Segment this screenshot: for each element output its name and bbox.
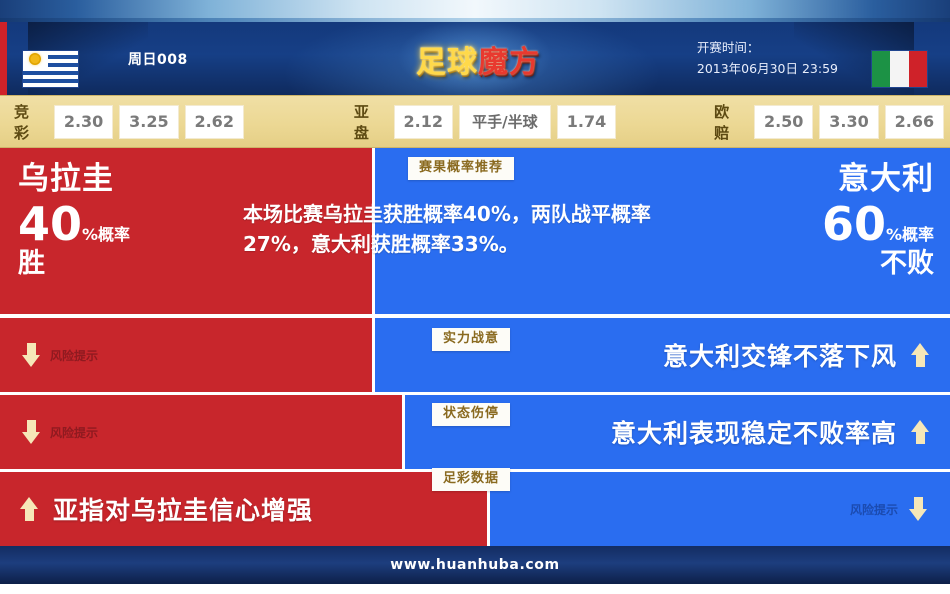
insight-headline-text: 意大利表现稳定不败率高 [611, 414, 897, 450]
odds-group-label: 亚盘 [354, 101, 386, 143]
bottom-white-strip [0, 584, 950, 594]
risk-note-label: 风险提示 [50, 424, 98, 441]
match-code-label: 周日008 [128, 22, 188, 95]
arrow-up-icon [20, 497, 39, 521]
infographic-page: 周日008 足球魔方 开赛时间： 2013年06月30日 23:59 竞彩 2.… [0, 0, 950, 594]
odds-cell[interactable]: 3.25 [119, 105, 178, 139]
logo-text-accent: 魔方 [478, 37, 540, 81]
odds-cell[interactable]: 2.30 [54, 105, 113, 139]
kickoff-time-value: 2013年06月30日 23:59 [697, 59, 838, 80]
kickoff-time-block: 开赛时间： 2013年06月30日 23:59 [697, 22, 838, 95]
odds-cell[interactable]: 2.62 [185, 105, 244, 139]
odds-cell[interactable]: 3.30 [819, 105, 878, 139]
odds-cell[interactable]: 2.66 [885, 105, 944, 139]
risk-note-label: 风险提示 [50, 347, 98, 364]
site-footer: www.huanhuba.com [0, 546, 950, 584]
home-outcome-label: 胜 [18, 250, 130, 277]
odds-cell-handicap[interactable]: 平手/半球 [459, 105, 551, 139]
probability-summary-text: 本场比赛乌拉圭获胜概率40%，两队战平概率27%，意大利获胜概率33%。 [243, 200, 678, 259]
risk-note-right: 风险提示 [850, 472, 928, 546]
odds-group-label: 欧赔 [714, 101, 746, 143]
section-tag-probability: 赛果概率推荐 [408, 157, 514, 180]
insight-headline: 意大利表现稳定不败率高 [611, 395, 930, 469]
odds-cell[interactable]: 1.74 [557, 105, 616, 139]
odds-group-label: 竞彩 [14, 101, 46, 143]
section-tag-form: 状态伤停 [432, 403, 510, 426]
section-tag-betting-data: 足彩数据 [432, 468, 510, 491]
away-probability-percent: 60 [822, 201, 886, 247]
odds-group-oupei: 欧赔 2.50 3.30 2.66 [714, 101, 950, 143]
home-probability-suffix: %概率 [82, 225, 130, 244]
odds-group-yapan: 亚盘 2.12 平手/半球 1.74 [354, 101, 622, 143]
arrow-up-icon [911, 343, 930, 367]
arrow-up-icon [911, 420, 930, 444]
risk-note-label: 风险提示 [850, 501, 898, 518]
footer-url[interactable]: www.huanhuba.com [390, 557, 559, 573]
site-logo: 足球魔方 [398, 22, 558, 95]
kickoff-time-label: 开赛时间： [697, 38, 838, 59]
odds-bar: 竞彩 2.30 3.25 2.62 亚盘 2.12 平手/半球 1.74 欧赔 … [0, 95, 950, 148]
away-outcome-label: 不败 [822, 250, 934, 277]
arrow-down-icon [909, 497, 928, 521]
match-header: 周日008 足球魔方 开赛时间： 2013年06月30日 23:59 [0, 22, 950, 95]
insight-headline: 意大利交锋不落下风 [663, 318, 930, 392]
uruguay-flag-icon [22, 50, 79, 88]
odds-cell[interactable]: 2.50 [754, 105, 813, 139]
risk-note-left: 风险提示 [22, 318, 98, 392]
italy-flag-icon [871, 50, 928, 88]
insight-headline-text: 亚指对乌拉圭信心增强 [53, 491, 313, 527]
home-probability-percent: 40 [18, 201, 82, 247]
top-gradient-strip [0, 0, 950, 22]
away-probability-suffix: %概率 [886, 225, 934, 244]
odds-cell[interactable]: 2.12 [394, 105, 453, 139]
risk-note-left: 风险提示 [22, 395, 98, 469]
section-tag-strength: 实力战意 [432, 328, 510, 351]
arrow-down-icon [22, 420, 41, 444]
insight-headline: 亚指对乌拉圭信心增强 [20, 472, 313, 546]
insight-headline-text: 意大利交锋不落下风 [663, 337, 897, 373]
home-probability-block: 乌拉圭 40%概率 胜 [18, 164, 130, 277]
home-team-name: 乌拉圭 [18, 164, 130, 195]
header-red-accent-bar [0, 22, 7, 95]
logo-text-primary: 足球 [416, 37, 478, 81]
away-team-name: 意大利 [822, 164, 934, 195]
arrow-down-icon [22, 343, 41, 367]
away-probability-block: 意大利 60%概率 不败 [822, 164, 934, 277]
odds-group-jingcai: 竞彩 2.30 3.25 2.62 [14, 101, 250, 143]
